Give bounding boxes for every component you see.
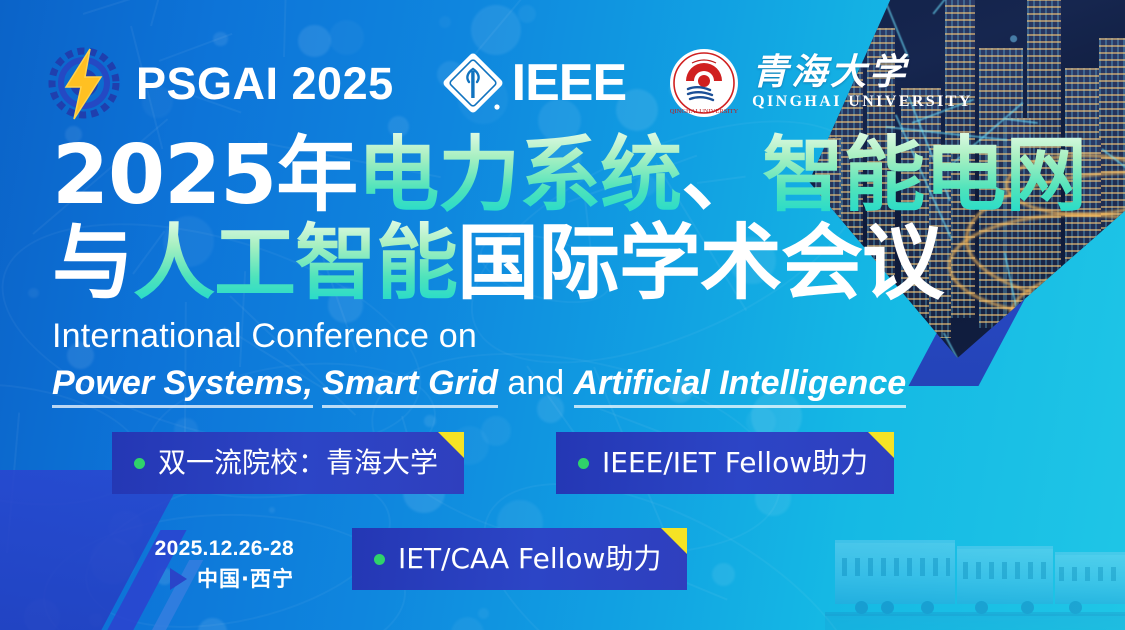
logo-row: PSGAI 2025 IEEE xyxy=(46,42,973,124)
qinghai-university-logo: QINGHAI UNIVERSITY 青海大学 QINGHAI UNIVERSI… xyxy=(668,47,973,119)
qinghai-university-seal-icon: QINGHAI UNIVERSITY xyxy=(668,47,740,119)
subtitle-em-smart-grid: Smart Grid xyxy=(322,364,498,408)
bullet-dot-icon xyxy=(134,458,145,469)
badge-label: 双一流院校：青海大学 xyxy=(158,449,438,477)
event-location-row: 中国·西宁 xyxy=(118,566,294,592)
qinghai-university-name-en: QINGHAI UNIVERSITY xyxy=(752,93,973,111)
psgai-logo: PSGAI 2025 xyxy=(46,45,394,121)
psgai-title: PSGAI 2025 xyxy=(136,61,394,106)
badge-label: IEEE/IET Fellow助力 xyxy=(602,449,868,477)
conference-poster: PSGAI 2025 IEEE xyxy=(0,0,1125,630)
title-seg-smart-grid: 智能电网 xyxy=(762,128,1086,223)
subtitle-em-artificial-intelligence: Artificial Intelligence xyxy=(574,364,907,408)
svg-text:QINGHAI UNIVERSITY: QINGHAI UNIVERSITY xyxy=(670,108,739,115)
ieee-wordmark: IEEE xyxy=(512,57,627,109)
subtitle-em-power-systems: Power Systems, xyxy=(52,364,313,408)
bullet-dot-icon xyxy=(374,554,385,565)
ieee-logo: IEEE xyxy=(442,52,627,114)
qinghai-university-wordmark: 青海大学 QINGHAI UNIVERSITY xyxy=(752,55,973,111)
main-title: 2025年电力系统、智能电网 与人工智能国际学术会议 xyxy=(52,132,1092,308)
title-seg-and: 与 xyxy=(52,216,133,311)
corner-accent-icon xyxy=(868,432,894,458)
subtitle-line-2: Power Systems, Smart Grid and Artificial… xyxy=(52,360,1102,406)
qinghai-university-name-cn: 青海大学 xyxy=(752,55,973,91)
subtitle-line-1: International Conference on xyxy=(52,314,1102,358)
badge-ieee-iet-fellow[interactable]: IEEE/IET Fellow助力 xyxy=(556,432,894,494)
title-seg-comma: 、 xyxy=(681,128,762,223)
play-triangle-icon xyxy=(170,568,187,590)
event-date-location: 2025.12.26-28 中国·西宁 xyxy=(118,536,294,592)
train-watermark-photo xyxy=(825,500,1125,630)
title-seg-ai: 人工智能 xyxy=(133,216,457,311)
corner-accent-icon xyxy=(661,528,687,554)
subtitle-conjunction: and xyxy=(507,364,564,402)
bullet-dot-icon xyxy=(578,458,589,469)
badge-label: IET/CAA Fellow助力 xyxy=(398,545,661,573)
gear-bolt-icon xyxy=(46,45,122,121)
ieee-diamond-icon xyxy=(442,52,504,114)
badge-iet-caa-fellow[interactable]: IET/CAA Fellow助力 xyxy=(352,528,687,590)
title-line-2: 与人工智能国际学术会议 xyxy=(52,220,1092,308)
badge-dual-first-class-university[interactable]: 双一流院校：青海大学 xyxy=(112,432,464,494)
title-seg-year: 2025年 xyxy=(52,128,357,223)
event-date: 2025.12.26-28 xyxy=(118,536,294,562)
title-seg-conference: 国际学术会议 xyxy=(457,216,943,311)
event-location: 中国·西宁 xyxy=(197,566,294,592)
title-line-1: 2025年电力系统、智能电网 xyxy=(52,132,1092,220)
corner-accent-icon xyxy=(438,432,464,458)
title-seg-power-systems: 电力系统 xyxy=(357,128,681,223)
english-subtitle: International Conference on Power System… xyxy=(52,314,1102,406)
